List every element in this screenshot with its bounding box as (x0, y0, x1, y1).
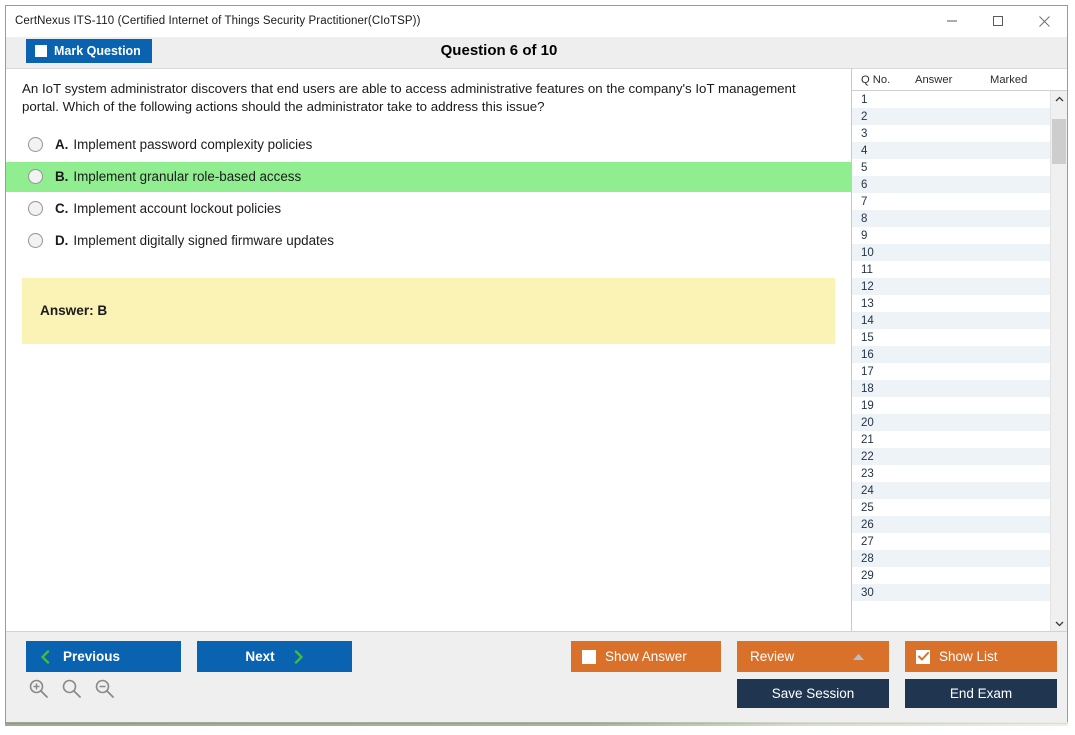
review-label: Review (750, 649, 794, 664)
zoom-out-icon[interactable] (94, 678, 115, 699)
mark-question-checkbox-icon[interactable] (35, 45, 47, 57)
answer-list-row[interactable]: 17 (852, 363, 1050, 380)
answer-list-row[interactable]: 11 (852, 261, 1050, 278)
answer-list-cell-qno: 18 (852, 383, 906, 395)
option-radio-icon[interactable] (28, 169, 43, 184)
show-answer-label: Show Answer (605, 649, 687, 664)
option-text: Implement digitally signed firmware upda… (73, 233, 334, 248)
chevron-left-icon (40, 650, 51, 664)
option-row-c[interactable]: C.Implement account lockout policies (6, 194, 851, 224)
answer-list-cell-qno: 29 (852, 570, 906, 582)
show-answer-button[interactable]: Show Answer (571, 641, 721, 672)
save-session-label: Save Session (772, 686, 855, 701)
option-letter: C. (55, 201, 68, 216)
answer-list-cell-qno: 12 (852, 281, 906, 293)
answer-list-pane: Q No. Answer Marked 12345678910111213141… (851, 68, 1067, 631)
answer-list-scroll-area: 1234567891011121314151617181920212223242… (852, 91, 1067, 631)
question-text: An IoT system administrator discovers th… (6, 69, 851, 117)
answer-list-row[interactable]: 8 (852, 210, 1050, 227)
question-counter: Question 6 of 10 (6, 42, 1067, 59)
answer-list-scrollbar[interactable] (1050, 91, 1067, 631)
answer-list-cell-qno: 19 (852, 400, 906, 412)
answer-list-cell-qno: 23 (852, 468, 906, 480)
review-dropdown-button[interactable]: Review (737, 641, 889, 672)
previous-label: Previous (63, 649, 120, 664)
option-radio-icon[interactable] (28, 137, 43, 152)
answer-list-cell-qno: 16 (852, 349, 906, 361)
answer-list-cell-qno: 8 (852, 213, 906, 225)
answer-list-cell-qno: 2 (852, 111, 906, 123)
show-answer-checkbox-icon[interactable] (582, 650, 596, 664)
option-letter: D. (55, 233, 68, 248)
previous-button[interactable]: Previous (26, 641, 181, 672)
zoom-controls (28, 678, 115, 699)
option-letter: A. (55, 137, 68, 152)
answer-list-row[interactable]: 20 (852, 414, 1050, 431)
answer-list-cell-qno: 22 (852, 451, 906, 463)
answer-list-cell-qno: 5 (852, 162, 906, 174)
answer-list-row[interactable]: 13 (852, 295, 1050, 312)
answer-list-rows: 1234567891011121314151617181920212223242… (852, 91, 1050, 631)
option-row-a[interactable]: A.Implement password complexity policies (6, 130, 851, 160)
answer-list-cell-qno: 1 (852, 94, 906, 106)
answer-list-cell-qno: 27 (852, 536, 906, 548)
option-letter: B. (55, 169, 68, 184)
zoom-reset-icon[interactable] (61, 678, 82, 699)
column-header-qno: Q No. (856, 74, 915, 86)
answer-list-row[interactable]: 5 (852, 159, 1050, 176)
answer-list-row[interactable]: 22 (852, 448, 1050, 465)
answer-list-header: Q No. Answer Marked (852, 69, 1067, 91)
column-header-marked: Marked (983, 74, 1063, 86)
save-session-button[interactable]: Save Session (737, 679, 889, 708)
close-button[interactable] (1021, 6, 1067, 36)
answer-list-row[interactable]: 9 (852, 227, 1050, 244)
window-controls (929, 6, 1067, 36)
answer-list-row[interactable]: 23 (852, 465, 1050, 482)
answer-list-cell-qno: 28 (852, 553, 906, 565)
end-exam-button[interactable]: End Exam (905, 679, 1057, 708)
options-list: A.Implement password complexity policies… (6, 130, 851, 256)
option-radio-icon[interactable] (28, 233, 43, 248)
chevron-right-icon (293, 650, 304, 664)
answer-list-row[interactable]: 21 (852, 431, 1050, 448)
answer-list-row[interactable]: 4 (852, 142, 1050, 159)
answer-list-row[interactable]: 12 (852, 278, 1050, 295)
answer-list-cell-qno: 10 (852, 247, 906, 259)
answer-list-cell-qno: 26 (852, 519, 906, 531)
scroll-down-arrow-icon[interactable] (1051, 615, 1067, 631)
answer-list-cell-qno: 6 (852, 179, 906, 191)
answer-list-row[interactable]: 25 (852, 499, 1050, 516)
answer-list-cell-qno: 11 (852, 264, 906, 276)
answer-list-cell-qno: 30 (852, 587, 906, 599)
option-text: Implement account lockout policies (73, 201, 281, 216)
window-bottom-edge (5, 722, 1068, 726)
answer-text: Answer: B (40, 303, 107, 318)
next-label: Next (245, 649, 274, 664)
option-row-b[interactable]: B.Implement granular role-based access (6, 162, 851, 192)
zoom-in-icon[interactable] (28, 678, 49, 699)
answer-list-row[interactable]: 2 (852, 108, 1050, 125)
column-header-answer: Answer (915, 74, 983, 86)
answer-list-row[interactable]: 10 (852, 244, 1050, 261)
answer-list-row[interactable]: 3 (852, 125, 1050, 142)
answer-list-cell-qno: 21 (852, 434, 906, 446)
mark-question-button[interactable]: Mark Question (26, 39, 152, 63)
answer-reveal-box: Answer: B (22, 278, 835, 344)
answer-list-cell-qno: 3 (852, 128, 906, 140)
end-exam-label: End Exam (950, 686, 1012, 701)
body-split: An IoT system administrator discovers th… (6, 68, 1067, 631)
answer-list-cell-qno: 4 (852, 145, 906, 157)
question-pane: An IoT system administrator discovers th… (6, 68, 851, 631)
show-list-checkbox-icon[interactable] (916, 650, 930, 664)
answer-list-cell-qno: 13 (852, 298, 906, 310)
answer-list-row[interactable]: 16 (852, 346, 1050, 363)
answer-list-cell-qno: 9 (852, 230, 906, 242)
mark-question-label: Mark Question (54, 44, 141, 58)
scrollbar-track[interactable] (1051, 107, 1067, 615)
exam-window: CertNexus ITS-110 (Certified Internet of… (5, 5, 1068, 724)
next-button[interactable]: Next (197, 641, 352, 672)
minimize-button[interactable] (929, 6, 975, 36)
answer-list-row[interactable]: 27 (852, 533, 1050, 550)
option-text: Implement granular role-based access (73, 169, 301, 184)
answer-list-row[interactable]: 24 (852, 482, 1050, 499)
option-radio-icon[interactable] (28, 201, 43, 216)
answer-list-cell-qno: 14 (852, 315, 906, 327)
show-list-label: Show List (939, 649, 998, 664)
answer-list-cell-qno: 20 (852, 417, 906, 429)
answer-list-cell-qno: 24 (852, 485, 906, 497)
answer-list-cell-qno: 15 (852, 332, 906, 344)
show-list-button[interactable]: Show List (905, 641, 1057, 672)
window-title: CertNexus ITS-110 (Certified Internet of… (6, 15, 421, 27)
answer-list-row[interactable]: 26 (852, 516, 1050, 533)
answer-list-row[interactable]: 6 (852, 176, 1050, 193)
answer-list-row[interactable]: 29 (852, 567, 1050, 584)
scrollbar-thumb[interactable] (1052, 119, 1066, 164)
title-bar: CertNexus ITS-110 (Certified Internet of… (6, 6, 1067, 37)
answer-list-row[interactable]: 15 (852, 329, 1050, 346)
answer-list-row[interactable]: 1 (852, 91, 1050, 108)
answer-list-cell-qno: 7 (852, 196, 906, 208)
answer-list-cell-qno: 17 (852, 366, 906, 378)
answer-list-row[interactable]: 7 (852, 193, 1050, 210)
option-row-d[interactable]: D.Implement digitally signed firmware up… (6, 226, 851, 256)
answer-list-row[interactable]: 18 (852, 380, 1050, 397)
chevron-up-icon (852, 653, 865, 661)
answer-list-cell-qno: 25 (852, 502, 906, 514)
answer-list-row[interactable]: 19 (852, 397, 1050, 414)
answer-list-row[interactable]: 30 (852, 584, 1050, 601)
option-text: Implement password complexity policies (73, 137, 312, 152)
answer-list-row[interactable]: 28 (852, 550, 1050, 567)
scroll-up-arrow-icon[interactable] (1051, 91, 1067, 107)
answer-list-row[interactable]: 14 (852, 312, 1050, 329)
maximize-button[interactable] (975, 6, 1021, 36)
header-bar: Mark Question Question 6 of 10 (6, 37, 1067, 68)
footer-toolbar: Previous Next Show Answer Review Show Li… (6, 631, 1067, 723)
